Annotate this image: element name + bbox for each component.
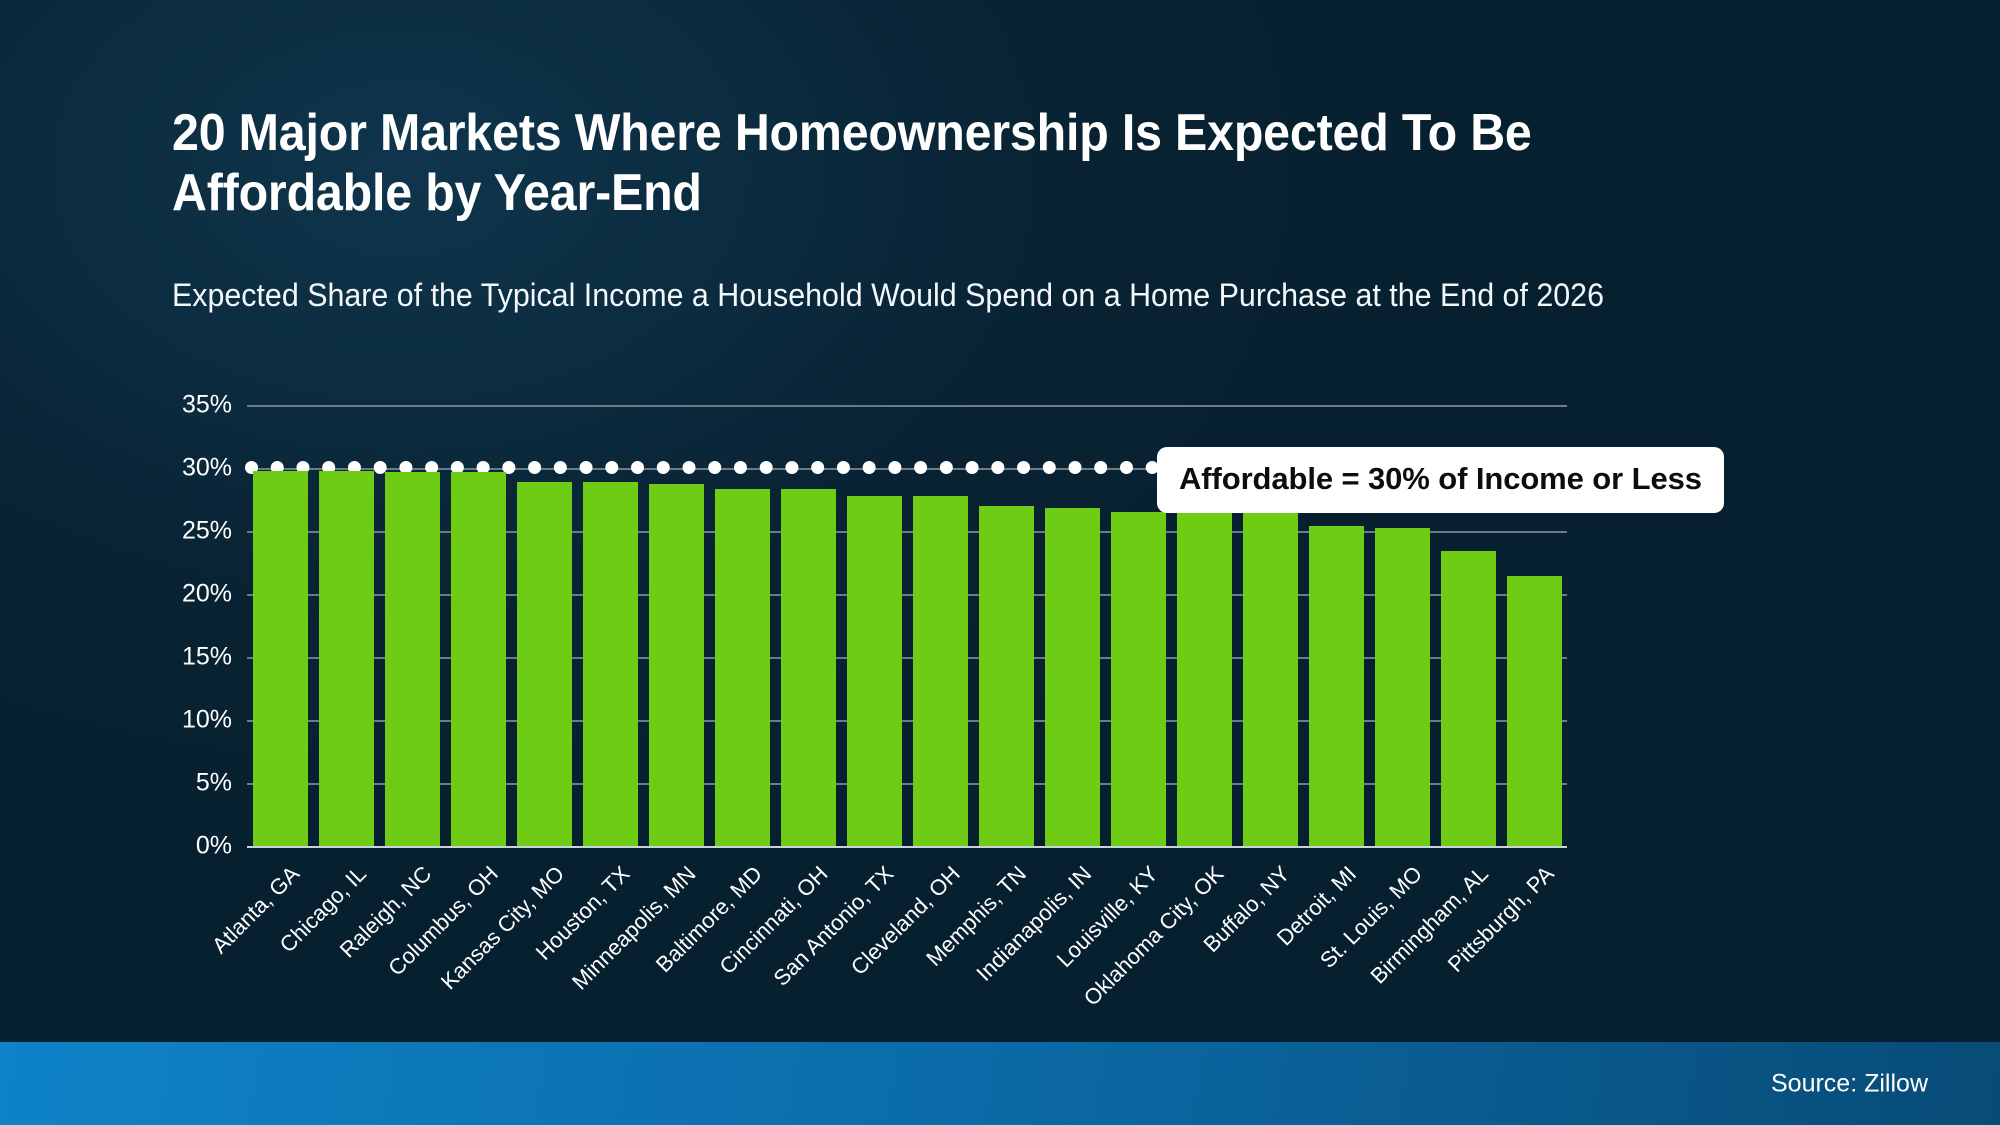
x-axis-label-slot: Pittsburgh, PA — [1501, 855, 1567, 1045]
y-axis-tick-label: 30% — [182, 454, 232, 483]
x-axis-line — [247, 846, 1567, 848]
bar[interactable] — [1507, 576, 1562, 846]
bar-slot — [247, 405, 313, 846]
y-axis-tick-label: 25% — [182, 517, 232, 546]
infographic-page: 20 Major Markets Where Homeownership Is … — [0, 0, 2000, 1125]
bar[interactable] — [781, 489, 836, 846]
bar[interactable] — [583, 482, 638, 846]
bar[interactable] — [1375, 528, 1430, 846]
y-axis-tick-label: 0% — [196, 832, 232, 861]
bar[interactable] — [319, 471, 374, 846]
bar-slot — [313, 405, 379, 846]
bar-slot — [907, 405, 973, 846]
x-axis-label-slot: Buffalo, NY — [1237, 855, 1303, 1045]
bar-slot — [511, 405, 577, 846]
bar-slot — [445, 405, 511, 846]
bar-slot — [577, 405, 643, 846]
footer-bar: Source: Zillow — [0, 1042, 2000, 1125]
bar[interactable] — [1045, 508, 1100, 846]
x-axis-labels: Atlanta, GAChicago, ILRaleigh, NCColumbu… — [247, 855, 1567, 1045]
bar-slot — [775, 405, 841, 846]
bar[interactable] — [1441, 551, 1496, 846]
bar[interactable] — [1111, 512, 1166, 846]
bar[interactable] — [913, 496, 968, 846]
bar[interactable] — [847, 496, 902, 846]
bar[interactable] — [1309, 526, 1364, 846]
bar[interactable] — [385, 472, 440, 846]
bar[interactable] — [253, 471, 308, 846]
bar[interactable] — [1243, 513, 1298, 846]
bar[interactable] — [715, 489, 770, 846]
y-axis-tick-label: 10% — [182, 706, 232, 735]
bar[interactable] — [517, 482, 572, 846]
bar-slot — [643, 405, 709, 846]
affordability-threshold-callout: Affordable = 30% of Income or Less — [1157, 447, 1724, 513]
bar[interactable] — [649, 484, 704, 846]
source-label: Source: Zillow — [1771, 1069, 1928, 1098]
x-axis-label-slot: Oklahoma City, OK — [1171, 855, 1237, 1045]
bar-slot — [379, 405, 445, 846]
bar-slot — [973, 405, 1039, 846]
y-axis-tick-label: 35% — [182, 391, 232, 420]
bar-slot — [841, 405, 907, 846]
bar[interactable] — [1177, 512, 1232, 846]
bar-slot — [1039, 405, 1105, 846]
x-axis-label-slot: Atlanta, GA — [247, 855, 313, 1045]
bar-chart: 35%30%25%20%15%10%5%0% Atlanta, GAChicag… — [0, 0, 2000, 1060]
y-axis-tick-label: 5% — [196, 769, 232, 798]
y-axis-tick-label: 15% — [182, 643, 232, 672]
y-axis-tick-label: 20% — [182, 580, 232, 609]
bar-slot — [709, 405, 775, 846]
bar[interactable] — [451, 472, 506, 846]
bar[interactable] — [979, 506, 1034, 846]
